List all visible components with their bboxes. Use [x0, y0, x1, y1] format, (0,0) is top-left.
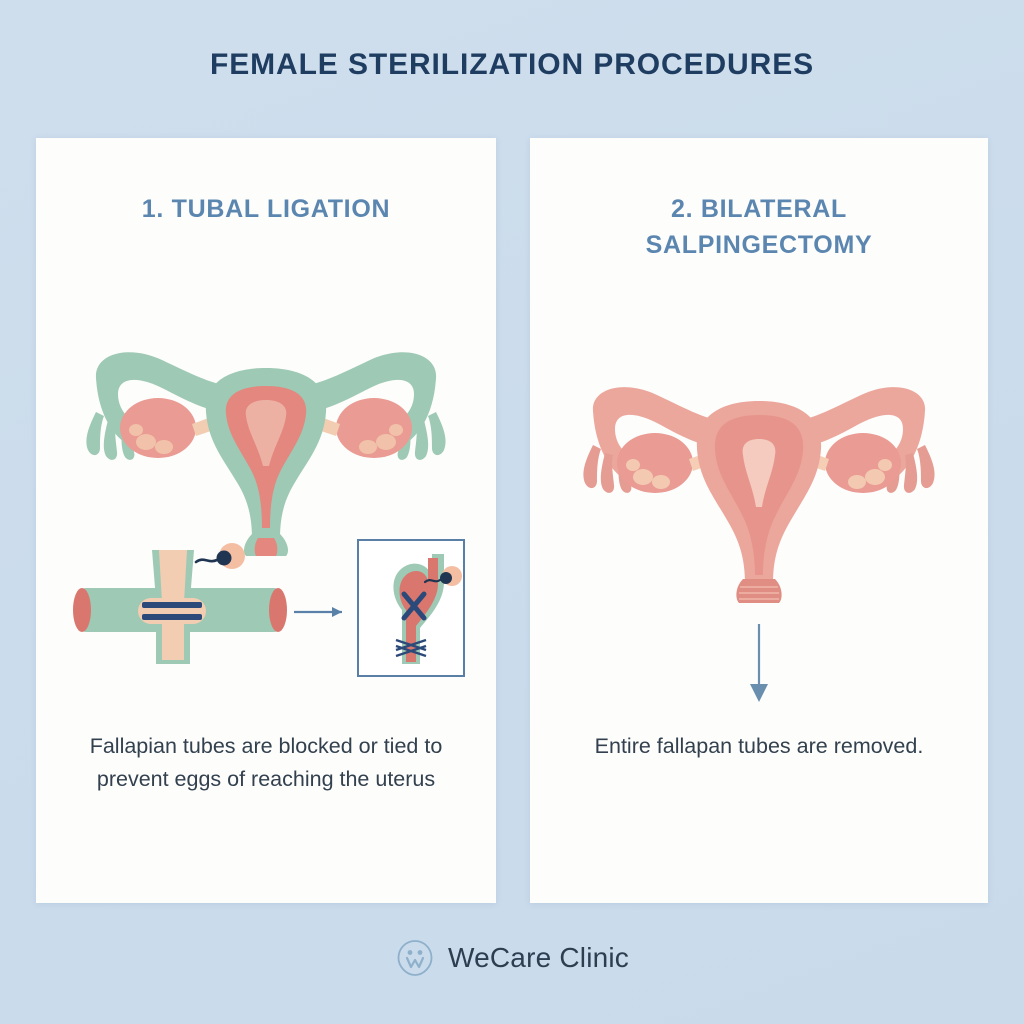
brand-name: WeCare Clinic	[448, 942, 629, 974]
panel-heading-2: 2. BILATERAL SALPINGECTOMY	[530, 192, 988, 263]
occlusion-inset-svg	[66, 536, 466, 701]
page-title: FEMALE STERILIZATION PROCEDURES	[0, 48, 1024, 82]
panel-card-tubal-ligation: 1. TUBAL LIGATION	[36, 138, 496, 903]
panel-caption-1: Fallapian tubes are blocked or tied to p…	[36, 730, 496, 795]
wecare-circle-w-logo-icon	[395, 938, 435, 978]
infographic-page: FEMALE STERILIZATION PROCEDURES 1. TUBAL…	[0, 0, 1024, 1024]
panel-card-bilateral-salpingectomy: 2. BILATERAL SALPINGECTOMY	[530, 138, 988, 903]
clip-band-upper	[142, 602, 202, 608]
clip-seat	[138, 598, 206, 624]
down-arrow-svg	[729, 620, 789, 710]
diagram-uterus-tubal-ligation	[36, 316, 496, 556]
uterus-svg-pink	[559, 353, 959, 603]
footer-branding: WeCare Clinic	[0, 938, 1024, 978]
clip-band-lower	[142, 614, 202, 620]
transition-arrow	[294, 607, 342, 617]
panel-heading-1: 1. TUBAL LIGATION	[36, 192, 496, 228]
arrow-head	[750, 684, 768, 702]
sperm-cell	[196, 543, 245, 569]
panel-caption-2: Entire fallapan tubes are removed.	[530, 730, 988, 763]
tube-lumen-right	[269, 588, 287, 632]
diagram-tube-occlusion-inset	[36, 536, 496, 701]
uterus-svg-green	[66, 316, 466, 556]
diagram-uterus-salpingectomy	[530, 353, 988, 603]
tube-lumen-left	[73, 588, 91, 632]
diagram-down-arrow	[530, 620, 988, 710]
